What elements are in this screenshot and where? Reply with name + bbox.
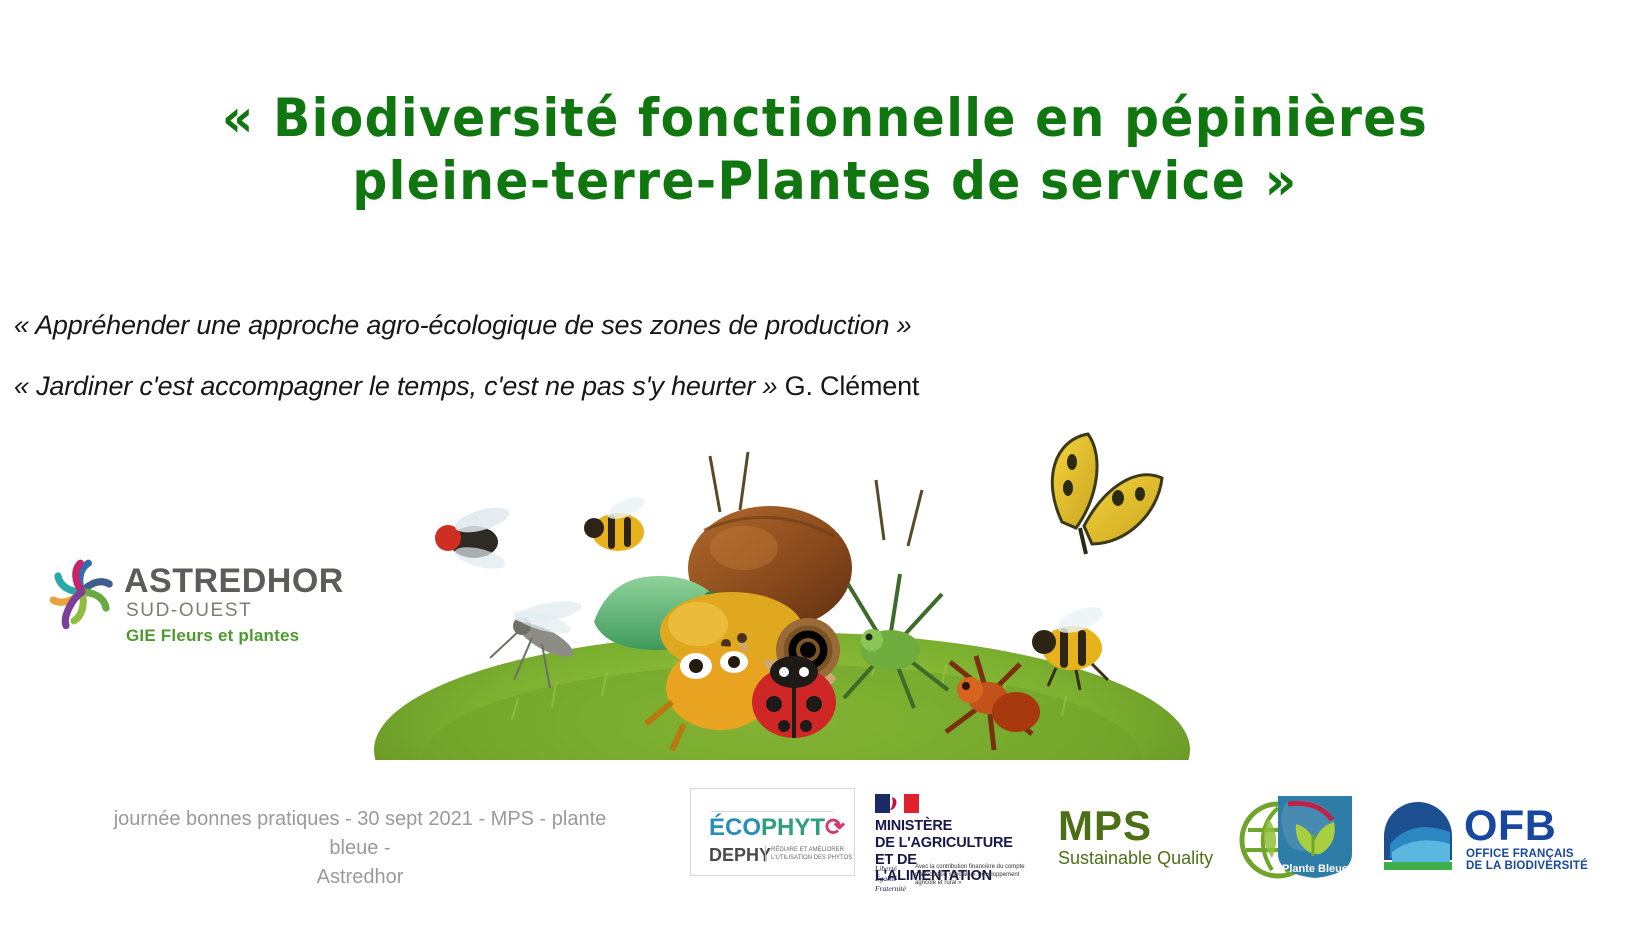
astredhor-tagline: GIE Fleurs et plantes [126,626,299,646]
funding-note: Avec la contribution financière du compt… [915,864,1033,888]
footer-credit-line-2: Astredhor [100,863,620,892]
ecophyto-rule [711,811,833,812]
dephy-tagline-line-2: L'UTILISATION DES PHYTOS [771,854,859,862]
motto-line-1: Liberté [875,864,911,874]
ofb-fullname-line-1: OFFICE FRANÇAIS [1466,848,1574,860]
ofb-fullname-line-2: DE LA BIODIVERSITÉ [1466,860,1588,872]
insects-on-grass-mound-illustration [372,420,1192,760]
motto-line-2: Égalité [875,874,911,884]
footer-credit-line-1: journée bonnes pratiques - 30 sept 2021 … [100,805,620,863]
mps-logo: MPS Sustainable Quality [1058,802,1248,874]
quote-line-1: « Appréhender une approche agro-écologiq… [14,310,1214,341]
quote-line-2: « Jardiner c'est accompagner le temps, c… [14,371,1214,402]
mps-tagline: Sustainable Quality [1058,848,1213,869]
ministere-title-line-1: MINISTÈRE [875,818,1035,835]
title-line-1: « Biodiversité fonctionnelle en pépinièr… [66,88,1584,151]
astredhor-region: SUD-OUEST [126,600,252,622]
ofb-wordmark: OFB [1464,802,1556,851]
ofb-logo: OFB OFFICE FRANÇAIS DE LA BIODIVERSITÉ [1382,800,1632,874]
page-title: « Biodiversité fonctionnelle en pépinièr… [0,88,1650,213]
quote-line-2-text: « Jardiner c'est accompagner le temps, c… [14,371,777,401]
title-line-2: pleine-terre-Plantes de service » [66,151,1584,214]
ministere-title-line-2: DE L'AGRICULTURE [875,835,1035,852]
funding-note-line-3: agricole et rural » [915,880,1033,888]
ministere-agriculture-logo: MINISTÈRE DE L'AGRICULTURE ET DE L'ALIME… [875,790,1035,882]
quote-author: G. Clément [777,371,919,401]
quote-block: « Appréhender une approche agro-écologiq… [14,310,1214,402]
plante-bleue-label: Plante Bleue [1282,863,1348,875]
astredhor-name: ASTREDHOR [124,562,344,601]
funding-note-line-2: d'affectation spéciale « Développement [915,872,1033,880]
partner-logo-bar: ÉCOPHYT⟳ DEPHY RÉDUIRE ET AMÉLIORER L'UT… [690,788,1630,883]
funding-note-line-1: Avec la contribution financière du compt… [915,864,1033,872]
french-flag-marianne-icon [875,794,919,813]
dephy-tagline-line-1: RÉDUIRE ET AMÉLIORER [771,846,859,854]
ecophyto-word-part2: PHYT [761,814,825,841]
plante-bleue-logo: Plante Bleue [1272,790,1358,882]
dephy-wordmark: DEPHY [709,845,771,866]
astredhor-logo: ASTREDHOR SUD-OUEST GIE Fleurs et plante… [42,548,332,653]
dephy-tagline: RÉDUIRE ET AMÉLIORER L'UTILISATION DES P… [765,846,859,862]
landscape-disc-icon [1382,800,1454,872]
pinwheel-flower-icon [42,552,122,632]
presentation-slide: « Biodiversité fonctionnelle en pépinièr… [0,0,1650,927]
mps-wordmark: MPS [1058,802,1152,850]
ecophyto-word-part1: ÉCO [709,814,761,841]
circular-arrow-icon: ⟳ [825,814,845,841]
ecophyto-wordmark: ÉCOPHYT⟳ [709,813,845,842]
motto-line-3: Fraternité [875,884,911,894]
footer-credit: journée bonnes pratiques - 30 sept 2021 … [100,805,620,892]
ecophyto-logo: ÉCOPHYT⟳ DEPHY RÉDUIRE ET AMÉLIORER L'UT… [690,788,855,876]
republic-motto: Liberté Égalité Fraternité [875,864,911,894]
